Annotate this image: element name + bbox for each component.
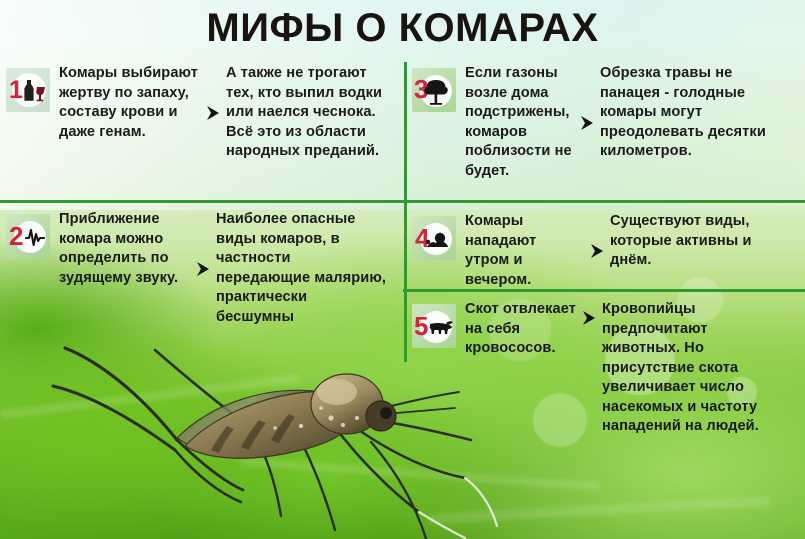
sound-waveform-icon: 2 [6,214,50,258]
tree-icon: 3 [412,68,456,112]
fact-2-myth-text: Приближение комара можно определить по з… [59,210,190,288]
wine-bottle-and-glass-icon: 1 [6,68,50,112]
svg-text:1: 1 [9,76,23,104]
fact-5-myth-column: Скот отвлекает на себя кровососов. [456,300,576,359]
divider-vertical-center [404,62,407,362]
svg-text:4: 4 [415,223,430,253]
fact-1-truth-text: А также не трогают тех, кто выпил водки … [226,64,394,162]
fact-2-myth-column: Приближение комара можно определить по з… [50,210,190,288]
arrow-right-icon [190,261,216,277]
fact-3-truth-text: Обрезка травы не панацея - голодные кома… [600,64,770,162]
fact-5-truth-text: Кровопийцы предпочитают животных. Но при… [602,300,770,437]
fact-5-myth-text: Скот отвлекает на себя кровососов. [465,300,576,359]
cow-icon: 5 [412,304,456,348]
page-title: МИФЫ О КОМАРАХ [0,4,805,54]
fact-3-myth-text: Если газоны возле дома подстрижены, кома… [465,64,574,181]
fact-4-myth-text: Комары нападают утром и вечером. [465,212,584,290]
fact-2-truth-text: Наиболее опасные виды комаров, в частнос… [216,210,388,327]
fact-item-5: 5 Скот отвлекает на себя кровососов. Кро… [412,300,802,437]
arrow-right-icon [584,243,610,259]
arrow-right-icon [574,115,600,131]
fact-item-4: 4 Комары нападают утром и вечером. Сущес… [412,212,802,290]
infographic-canvas: МИФЫ О КОМАРАХ 1 Комары выбирают жертву … [0,0,805,539]
arrow-right-icon [200,105,226,121]
fact-4-truth-text: Существуют виды, которые активны и днём. [610,212,770,271]
fact-item-2: 2 Приближение комара можно определить по… [6,210,402,327]
svg-text:2: 2 [9,221,23,251]
fact-4-myth-column: Комары нападают утром и вечером. [456,212,584,290]
fact-item-1: 1 Комары выбирают жертву по запаху, сост… [6,64,402,162]
svg-text:5: 5 [414,311,428,341]
fact-3-myth-column: Если газоны возле дома подстрижены, кома… [456,64,574,181]
sunrise-sunset-icon: 4 [412,216,456,260]
fact-1-myth-column: Комары выбирают жертву по запаху, состав… [50,64,200,142]
divider-horizontal-top [0,200,805,203]
arrow-right-icon [576,310,602,326]
fact-1-myth-text: Комары выбирают жертву по запаху, состав… [59,64,200,142]
fact-item-3: 3 Если газоны возле дома подстрижены, ко… [412,64,802,181]
